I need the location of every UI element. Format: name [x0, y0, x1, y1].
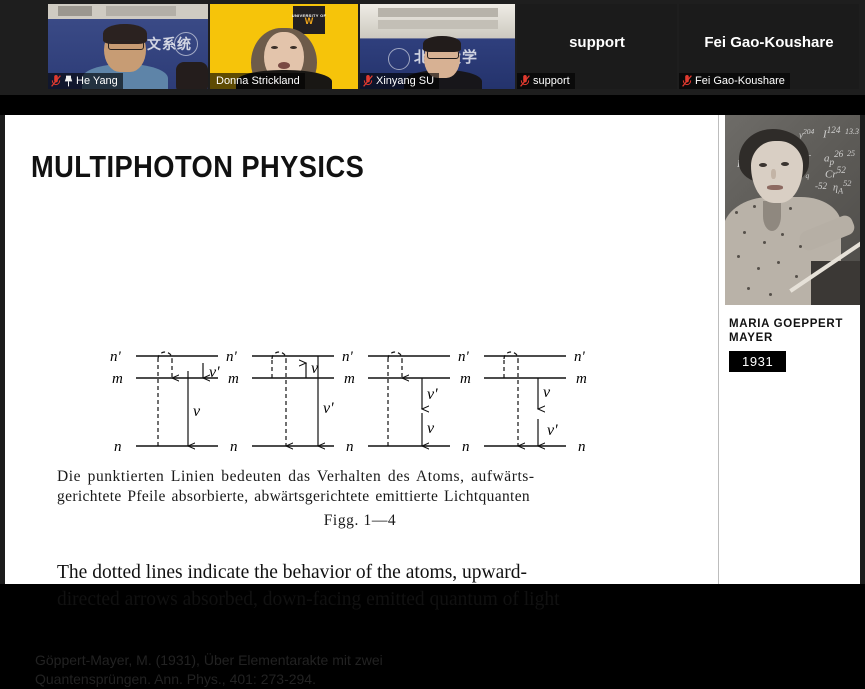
portrait-name-label: MARIA GOEPPERT MAYER — [729, 317, 857, 345]
slide-side-column: y204 I124 13.3 ap26 25 2q Cr52 -52 ηA52 … — [719, 115, 860, 584]
microphone-muted-icon — [51, 75, 61, 87]
svg-text:n': n' — [226, 349, 238, 365]
participant-name-label: support — [533, 75, 570, 87]
svg-text:m: m — [112, 371, 123, 387]
svg-text:n: n — [114, 439, 122, 455]
svg-text:n: n — [462, 439, 470, 455]
participant-namebar-he-yang: He Yang — [48, 73, 123, 89]
participant-tile-fei-gao-koushare[interactable]: Fei Gao-Koushare Fei Gao-Koushare — [679, 4, 859, 89]
svg-text:n': n' — [110, 349, 122, 365]
pin-icon — [64, 75, 73, 87]
svg-text:m: m — [576, 371, 587, 387]
portrait-name-line-2: MAYER — [729, 331, 857, 345]
svg-text:ν: ν — [311, 360, 319, 377]
svg-text:ν': ν' — [547, 422, 558, 439]
svg-text:n: n — [230, 439, 238, 455]
participant-initials-label: Fei Gao-Koushare — [679, 34, 859, 51]
svg-text:n': n' — [458, 349, 470, 365]
shared-screen-slide: MULTIPHOTON PHYSICS — [5, 115, 860, 584]
participant-name-label: Fei Gao-Koushare — [695, 75, 785, 87]
svg-text:ν': ν' — [427, 386, 438, 403]
participant-name-label: Xinyang SU — [376, 75, 434, 87]
portrait-name-line-1: MARIA GOEPPERT — [729, 317, 857, 331]
participant-namebar-fei-gao-koushare: Fei Gao-Koushare — [679, 73, 790, 89]
filmstrip-divider-band — [0, 95, 865, 115]
portrait-year-badge: 1931 — [729, 351, 786, 372]
svg-text:n': n' — [342, 349, 354, 365]
participant-namebar-xinyang-su: Xinyang SU — [360, 73, 439, 89]
svg-text:n': n' — [574, 349, 586, 365]
participant-tile-support[interactable]: support support — [517, 4, 677, 89]
svg-text:ν: ν — [427, 420, 435, 437]
citation-line-1: Göppert-Mayer, M. (1931), Über Elementar… — [35, 651, 555, 670]
svg-text:ν: ν — [543, 384, 551, 401]
svg-text:ν: ν — [193, 403, 201, 420]
figure-number-label: Figg. 1—4 — [57, 511, 663, 531]
citation-line-2: Quantensprüngen. Ann. Phys., 401: 273-29… — [35, 670, 555, 689]
maria-goeppert-mayer-portrait: y204 I124 13.3 ap26 25 2q Cr52 -52 ηA52 … — [725, 115, 860, 305]
translation-line-2: directed arrows absorbed, down-facing em… — [57, 586, 687, 613]
energy-level-diagram: n' m n ν ν' n' m n ν — [110, 347, 600, 457]
participant-tile-he-yang[interactable]: 永文系统 He Yang — [48, 4, 208, 89]
svg-text:m: m — [344, 371, 355, 387]
translation-line-1: The dotted lines indicate the behavior o… — [57, 559, 687, 586]
zoom-meeting-window: 永文系统 He Yang — [0, 0, 865, 584]
microphone-muted-icon — [520, 75, 530, 87]
energy-level-diagram-svg: n' m n ν ν' n' m n ν — [110, 347, 600, 457]
participant-namebar-support: support — [517, 73, 575, 89]
svg-text:m: m — [460, 371, 471, 387]
participant-name-label: Donna Strickland — [216, 75, 300, 87]
citation-block: Göppert-Mayer, M. (1931), Über Elementar… — [35, 651, 555, 689]
figure-caption-german: Die punktierten Linien bedeuten das Verh… — [57, 467, 663, 531]
portrait-face — [751, 141, 803, 203]
microphone-muted-icon — [682, 75, 692, 87]
svg-text:ν': ν' — [209, 364, 220, 381]
svg-text:n: n — [578, 439, 586, 455]
participant-namebar-donna-strickland: Donna Strickland — [210, 73, 305, 89]
page-title: MULTIPHOTON PHYSICS — [31, 149, 364, 185]
svg-text:n: n — [346, 439, 354, 455]
caption-line-2: gerichtete Pfeile absorbierte, abwärtsge… — [57, 487, 663, 507]
participant-tile-donna-strickland[interactable]: UNIVERSITY OFW Donna Strickland — [210, 4, 358, 89]
svg-text:m: m — [228, 371, 239, 387]
participant-tile-xinyang-su[interactable]: 北京大学 Xinyang SU — [360, 4, 515, 89]
figure-caption-translation: The dotted lines indicate the behavior o… — [57, 559, 687, 613]
slide-main-column: MULTIPHOTON PHYSICS — [5, 115, 718, 584]
caption-line-1: Die punktierten Linien bedeuten das Verh… — [57, 467, 663, 487]
participant-name-label: He Yang — [76, 75, 118, 87]
portrait-desk — [811, 261, 860, 305]
participant-filmstrip: 永文系统 He Yang — [0, 0, 865, 95]
participant-initials-label: support — [517, 34, 677, 51]
microphone-muted-icon — [363, 75, 373, 87]
svg-text:ν': ν' — [323, 400, 334, 417]
